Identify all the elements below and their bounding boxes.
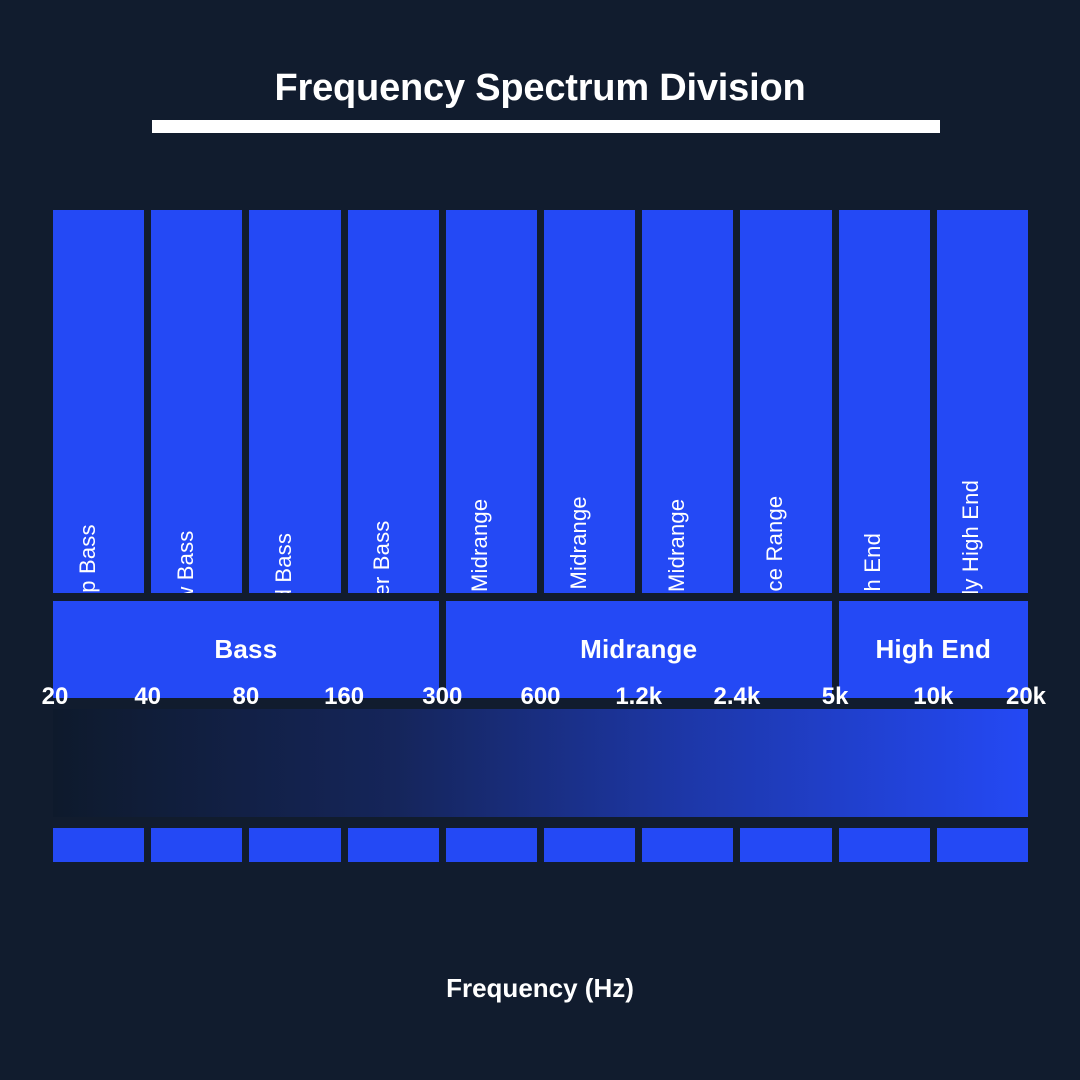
axis-tick-labels: 2040801603006001.2k2.4k5k10k20k (0, 683, 1080, 723)
frequency-band: Low Bass (151, 210, 242, 593)
axis-tick-label: 40 (134, 683, 161, 711)
tick-segment (642, 828, 733, 862)
frequency-band-label: Mid Bass (273, 533, 295, 593)
frequency-band: Upper Midrange (642, 210, 733, 593)
frequency-band: Upper Bass (348, 210, 439, 593)
axis-tick-label: 300 (422, 683, 462, 711)
frequency-band: Lower Midrange (446, 210, 537, 593)
axis-tick-label: 20k (1006, 683, 1046, 711)
infographic-root: Frequency Spectrum Division Deep BassLow… (0, 0, 1080, 1080)
tick-segment (151, 828, 242, 862)
frequency-band: Middle Midrange (544, 210, 635, 593)
frequency-band-label: Low Bass (175, 531, 197, 593)
axis-tick-label: 600 (520, 683, 560, 711)
axis-tick-label: 80 (233, 683, 260, 711)
tick-segment (740, 828, 831, 862)
axis-tick-label: 160 (324, 683, 364, 711)
frequency-band: Mid Bass (249, 210, 340, 593)
band-row: Deep BassLow BassMid BassUpper BassLower… (53, 210, 1028, 593)
frequency-group-label: High End (875, 634, 991, 665)
frequency-band-label: Lower Midrange (469, 499, 491, 593)
frequency-band-label: Deep Bass (77, 524, 99, 593)
frequency-band-label: Upper Midrange (666, 499, 688, 593)
tick-segment (249, 828, 340, 862)
tick-segment (348, 828, 439, 862)
title-underline (152, 120, 940, 133)
axis-tick-label: 5k (822, 683, 849, 711)
page-title: Frequency Spectrum Division (0, 68, 1080, 110)
axis-tick-label: 2.4k (714, 683, 761, 711)
frequency-band: Deep Bass (53, 210, 144, 593)
axis-tick-label: 20 (42, 683, 69, 711)
frequency-band: High End (839, 210, 930, 593)
frequency-band: Presence Range (740, 210, 831, 593)
tick-segment (53, 828, 144, 862)
axis-tick-label: 10k (913, 683, 953, 711)
frequency-group-label: Midrange (580, 634, 697, 665)
title-block: Frequency Spectrum Division (0, 68, 1080, 110)
frequency-band-label: High End (862, 533, 884, 593)
tick-segment (544, 828, 635, 862)
frequency-band-label: Presence Range (764, 496, 786, 593)
frequency-band: Extremely High End (937, 210, 1028, 593)
intensity-gradient-strip (53, 709, 1028, 817)
frequency-band-label: Middle Midrange (568, 496, 590, 593)
tick-bar (53, 828, 1028, 862)
axis-tick-label: 1.2k (615, 683, 662, 711)
frequency-chart: Deep BassLow BassMid BassUpper BassLower… (53, 210, 1028, 862)
frequency-band-label: Upper Bass (371, 521, 393, 593)
tick-segment (839, 828, 930, 862)
frequency-band-label: Extremely High End (960, 480, 982, 593)
tick-segment (937, 828, 1028, 862)
frequency-group-label: Bass (214, 634, 277, 665)
tick-segment (446, 828, 537, 862)
axis-title: Frequency (Hz) (0, 973, 1080, 1004)
